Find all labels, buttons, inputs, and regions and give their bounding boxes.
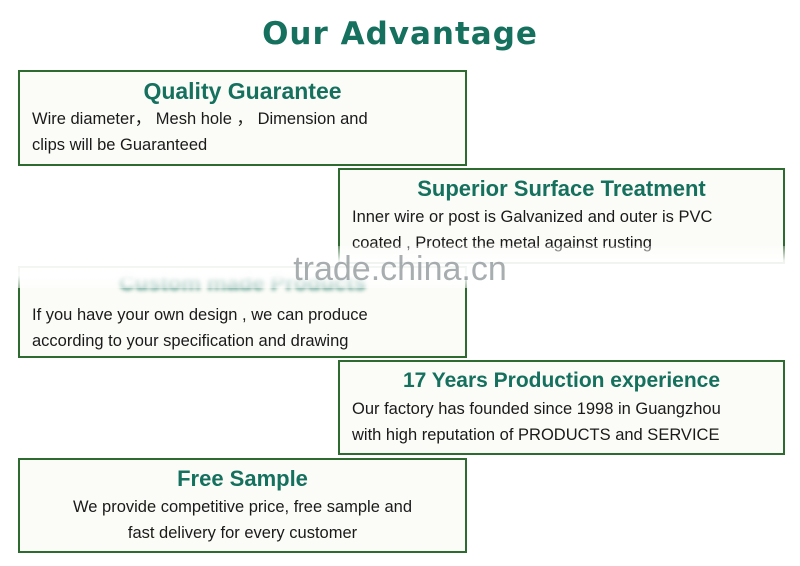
advantage-body-line: If you have your own design , we can pro…	[32, 302, 453, 328]
advantage-body-line: Wire diameter， Mesh hole ， Dimension and	[32, 106, 453, 132]
advantage-card-superior-surface-treatment: Superior Surface Treatment Inner wire or…	[338, 168, 785, 264]
advantage-heading-free-sample: Free Sample	[32, 464, 453, 494]
advantage-card-free-sample: Free Sample We provide competitive price…	[18, 458, 467, 553]
advantage-body-free-sample: We provide competitive price, free sampl…	[32, 494, 453, 546]
advantage-body-line: Inner wire or post is Galvanized and out…	[352, 204, 771, 230]
advantage-heading-custom-made-products: Custom made Products	[32, 268, 453, 298]
advantage-card-production-experience: 17 Years Production experience Our facto…	[338, 360, 785, 455]
page-title: Our Advantage	[0, 16, 800, 52]
advantage-heading-quality-guarantee: Quality Guarantee	[32, 76, 453, 106]
advantage-body-production-experience: Our factory has founded since 1998 in Gu…	[352, 396, 771, 448]
advantage-card-custom-made-products: Custom made Products If you have your ow…	[18, 266, 467, 358]
advantage-body-quality-guarantee: Wire diameter， Mesh hole ， Dimension and…	[32, 106, 453, 158]
advantage-body-line: fast delivery for every customer	[32, 520, 453, 546]
advantage-body-superior-surface-treatment: Inner wire or post is Galvanized and out…	[352, 204, 771, 256]
advantage-body-line: according to your specification and draw…	[32, 328, 453, 354]
advantage-body-line: with high reputation of PRODUCTS and SER…	[352, 422, 771, 448]
advantage-card-quality-guarantee: Quality Guarantee Wire diameter， Mesh ho…	[18, 70, 467, 166]
advantage-body-line: We provide competitive price, free sampl…	[32, 494, 453, 520]
advantage-body-custom-made-products: If you have your own design , we can pro…	[32, 302, 453, 354]
advantage-infographic: Our Advantage Quality Guarantee Wire dia…	[0, 0, 800, 566]
advantage-body-line: coated , Protect the metal against rusti…	[352, 230, 771, 256]
advantage-heading-superior-surface-treatment: Superior Surface Treatment	[352, 174, 771, 204]
advantage-body-line: clips will be Guaranteed	[32, 132, 453, 158]
advantage-body-line: Our factory has founded since 1998 in Gu…	[352, 396, 771, 422]
advantage-heading-production-experience: 17 Years Production experience	[352, 366, 771, 396]
